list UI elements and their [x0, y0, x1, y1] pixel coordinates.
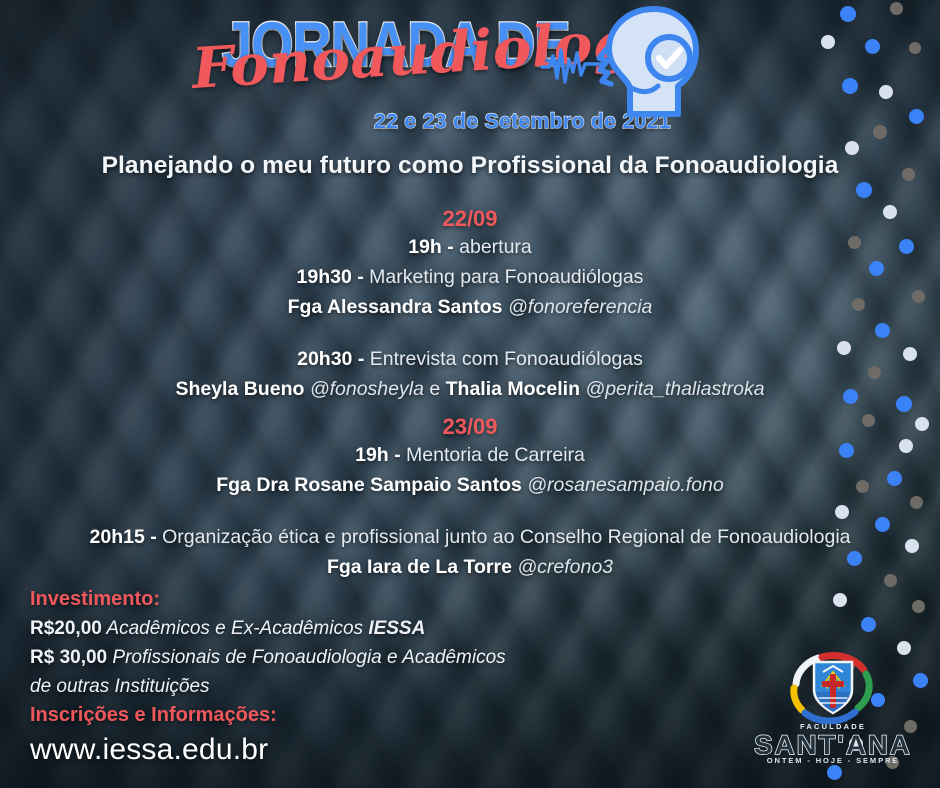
- session-handle: @fonosheyla: [310, 378, 424, 400]
- price-row-2-continued: de outras Instituições: [30, 672, 590, 701]
- session-speaker: Fga Dra Rosane Sampaio Santos: [216, 474, 522, 496]
- programme-section: 22/09 19h - abertura 19h30 - Marketing p…: [0, 204, 940, 582]
- session-handle: @rosanesampaio.fono: [527, 474, 724, 496]
- session-title: Organização ética e profissional junto a…: [157, 526, 851, 548]
- session-title: abertura: [454, 236, 532, 258]
- decorative-dot: [833, 593, 847, 607]
- poster-header: JORNADA DE Fonoaudiologia 22 e 23 de Set…: [0, 0, 940, 148]
- session-time: 19h -: [355, 444, 401, 466]
- session-speaker-2: Thalia Mocelin: [446, 378, 580, 400]
- investment-heading: Investimento:: [30, 585, 590, 614]
- session-time: 19h -: [408, 236, 454, 258]
- session-handle: @crefono3: [517, 556, 613, 578]
- decorative-dot: [912, 600, 925, 613]
- session-row: 20h30 - Entrevista com Fonoaudiólogas: [0, 344, 940, 374]
- logo-tagline: ONTEM - HOJE - SEMPRE: [748, 756, 918, 765]
- session-row: 19h - abertura: [0, 232, 940, 262]
- event-poster: JORNADA DE Fonoaudiologia 22 e 23 de Set…: [0, 0, 940, 788]
- section-spacer: [0, 500, 940, 522]
- poster-subtitle: Planejando o meu futuro como Profissiona…: [0, 152, 940, 180]
- session-conjunction: e: [424, 378, 446, 400]
- session-speaker: Fga Alessandra Santos: [288, 296, 503, 318]
- price-description-line2: de outras Instituições: [30, 676, 210, 697]
- price-value: R$ 30,00: [30, 647, 107, 668]
- session-title: Marketing para Fonoaudiólogas: [364, 266, 644, 288]
- day-heading-22-09: 22/09: [0, 206, 940, 232]
- head-profile-icon: [572, 2, 712, 120]
- session-row: 19h30 - Marketing para Fonoaudiólogas: [0, 262, 940, 292]
- session-speaker: Sheyla Bueno: [175, 378, 304, 400]
- session-handle: @fonoreferencia: [508, 296, 652, 318]
- price-institution: IESSA: [368, 618, 425, 639]
- session-time: 20h15 -: [90, 526, 157, 548]
- session-title: Mentoria de Carreira: [401, 444, 585, 466]
- session-row: Fga Iara de La Torre @crefono3: [0, 552, 940, 582]
- session-time: 19h30 -: [297, 266, 364, 288]
- section-spacer: [0, 404, 940, 412]
- price-description: Profissionais de Fonoaudiologia e Acadêm…: [107, 647, 506, 668]
- session-handle-2: @perita_thaliastroka: [585, 378, 764, 400]
- session-row: Fga Dra Rosane Sampaio Santos @rosanesam…: [0, 470, 940, 500]
- session-speaker: Fga Iara de La Torre: [327, 556, 512, 578]
- registration-heading: Inscrições e Informações:: [30, 701, 590, 730]
- section-spacer: [0, 322, 940, 344]
- website-url[interactable]: www.iessa.edu.br: [30, 730, 590, 770]
- session-time: 20h30 -: [297, 348, 364, 370]
- faculdade-santana-logo: FACULDADE SANT'ANA ONTEM - HOJE - SEMPRE: [748, 650, 918, 766]
- shield-crest-icon: [778, 650, 888, 724]
- decorative-dot: [861, 617, 876, 632]
- session-row: 19h - Mentoria de Carreira: [0, 440, 940, 470]
- decorative-dot: [856, 182, 872, 198]
- day-heading-23-09: 23/09: [0, 414, 940, 440]
- price-row-1: R$20,00 Acadêmicos e Ex-Acadêmicos IESSA: [30, 614, 590, 643]
- session-row: Fga Alessandra Santos @fonoreferencia: [0, 292, 940, 322]
- decorative-dot: [827, 765, 842, 780]
- price-value: R$20,00: [30, 618, 102, 639]
- poster-footer: Investimento: R$20,00 Acadêmicos e Ex-Ac…: [30, 585, 590, 770]
- price-row-2: R$ 30,00 Profissionais de Fonoaudiologia…: [30, 643, 590, 672]
- session-row: Sheyla Bueno @fonosheyla e Thalia Moceli…: [0, 374, 940, 404]
- price-description: Acadêmicos e Ex-Acadêmicos: [102, 618, 368, 639]
- session-row: 20h15 - Organização ética e profissional…: [0, 522, 940, 552]
- session-title: Entrevista com Fonoaudiólogas: [364, 348, 643, 370]
